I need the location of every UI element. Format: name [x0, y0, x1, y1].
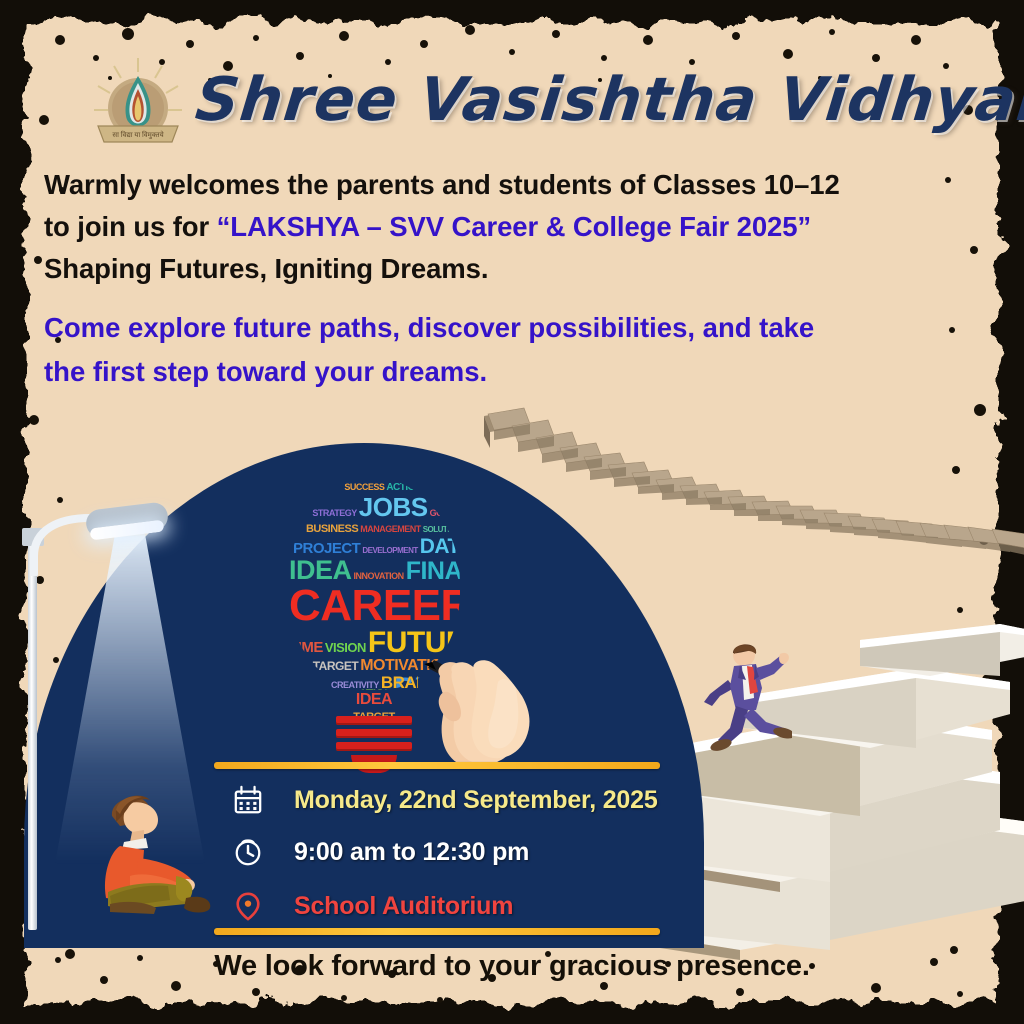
wordcloud-lower: CREATIVITYBRANDIDEATARGETCAREERSPLAN: [330, 674, 418, 720]
wordcloud-word: JOBS: [359, 494, 428, 520]
wordcloud-word: VISION: [325, 641, 366, 654]
wordcloud-word: TIME: [289, 640, 323, 655]
wordcloud-word: BUSINESS: [306, 524, 358, 535]
bulb-neck: CREATIVITYBRANDIDEATARGETCAREERSPLAN: [330, 674, 418, 720]
bulb-screw-base: [336, 716, 412, 768]
event-time-text: 9:00 am to 12:30 pm: [294, 838, 529, 867]
invite-line-1: Come explore future paths, discover poss…: [44, 306, 990, 350]
svg-text:सा विद्या या विमुक्तये: सा विद्या या विमुक्तये: [112, 130, 164, 139]
hand-holding-pen-illustration: [418, 632, 568, 772]
clock-icon: [226, 832, 270, 872]
wordcloud-word: MANAGEMENT: [360, 525, 421, 534]
wordcloud-row: STRATEGYJOBSGOAL: [288, 494, 460, 520]
intro-line-1: Warmly welcomes the parents and students…: [44, 164, 990, 206]
running-businessman-illustration: [700, 636, 792, 754]
wordcloud-row: BUSINESSMANAGEMENTSOLUTION: [288, 520, 460, 536]
wordcloud-word: PROJECT: [293, 541, 360, 556]
event-date-row: Monday, 22nd September, 2025: [226, 780, 658, 820]
wordcloud-word: IDEA: [356, 692, 392, 708]
wordcloud-word: CAREERS: [289, 584, 460, 628]
wordcloud-row: PROJECTDEVELOPMENTDATA: [288, 536, 460, 557]
wordcloud-word: IDEA: [289, 557, 352, 584]
event-venue-row: School Auditorium: [226, 886, 513, 926]
closing-message: We look forward to your gracious presenc…: [0, 950, 1024, 983]
intro-line-2: to join us for “LAKSHYA – SVV Career & C…: [44, 206, 990, 248]
intro-paragraph: Warmly welcomes the parents and students…: [44, 164, 990, 290]
event-name-highlight: “LAKSHYA – SVV Career & College Fair 202…: [217, 211, 811, 242]
wordcloud-word: BRAND: [381, 674, 418, 691]
wordcloud-word: SOLUTION: [423, 526, 460, 534]
divider-bottom: [214, 928, 660, 935]
school-name-title: Shree Vasishtha Vidhyalaya: [192, 58, 1001, 142]
wordcloud-row: IDEA: [330, 692, 418, 708]
wordcloud-word: INNOVATION: [354, 572, 404, 581]
invitation-text-block: Warmly welcomes the parents and students…: [44, 164, 990, 394]
seated-student-illustration: [86, 780, 226, 920]
wordcloud-word: CREATIVITY: [331, 681, 379, 690]
location-pin-icon: [226, 886, 270, 926]
invite-paragraph: Come explore future paths, discover poss…: [44, 306, 990, 394]
wordcloud-word: GOAL: [430, 509, 454, 518]
invite-line-2: the first step toward your dreams.: [44, 350, 990, 394]
wordcloud-word: TARGET: [313, 660, 358, 672]
event-date-text: Monday, 22nd September, 2025: [294, 786, 658, 815]
poster-canvas: सा विद्या या विमुक्तये Shree Vasishtha V…: [0, 0, 1024, 1024]
calendar-icon: [226, 780, 270, 820]
wordcloud-row: CAREERS: [288, 584, 460, 628]
intro-line-2-prefix: to join us for: [44, 211, 217, 242]
intro-line-3: Shaping Futures, Igniting Dreams.: [44, 248, 990, 290]
wordcloud-row: CREATIVITYBRAND: [330, 674, 418, 692]
school-emblem-flame-icon: सा विद्या या विमुक्तये: [84, 56, 192, 160]
lamp-pole: [28, 536, 37, 930]
wordcloud-word: DEVELOPMENT: [362, 547, 417, 555]
divider-top: [214, 762, 660, 769]
event-time-row: 9:00 am to 12:30 pm: [226, 832, 529, 872]
wordcloud-row: IDEAINNOVATIONFINANCE: [288, 557, 460, 584]
wordcloud-word: DATA: [420, 536, 460, 557]
wordcloud-word: STRATEGY: [312, 509, 356, 518]
event-venue-text: School Auditorium: [294, 892, 513, 921]
wordcloud-word: SUCCESS: [344, 483, 384, 492]
